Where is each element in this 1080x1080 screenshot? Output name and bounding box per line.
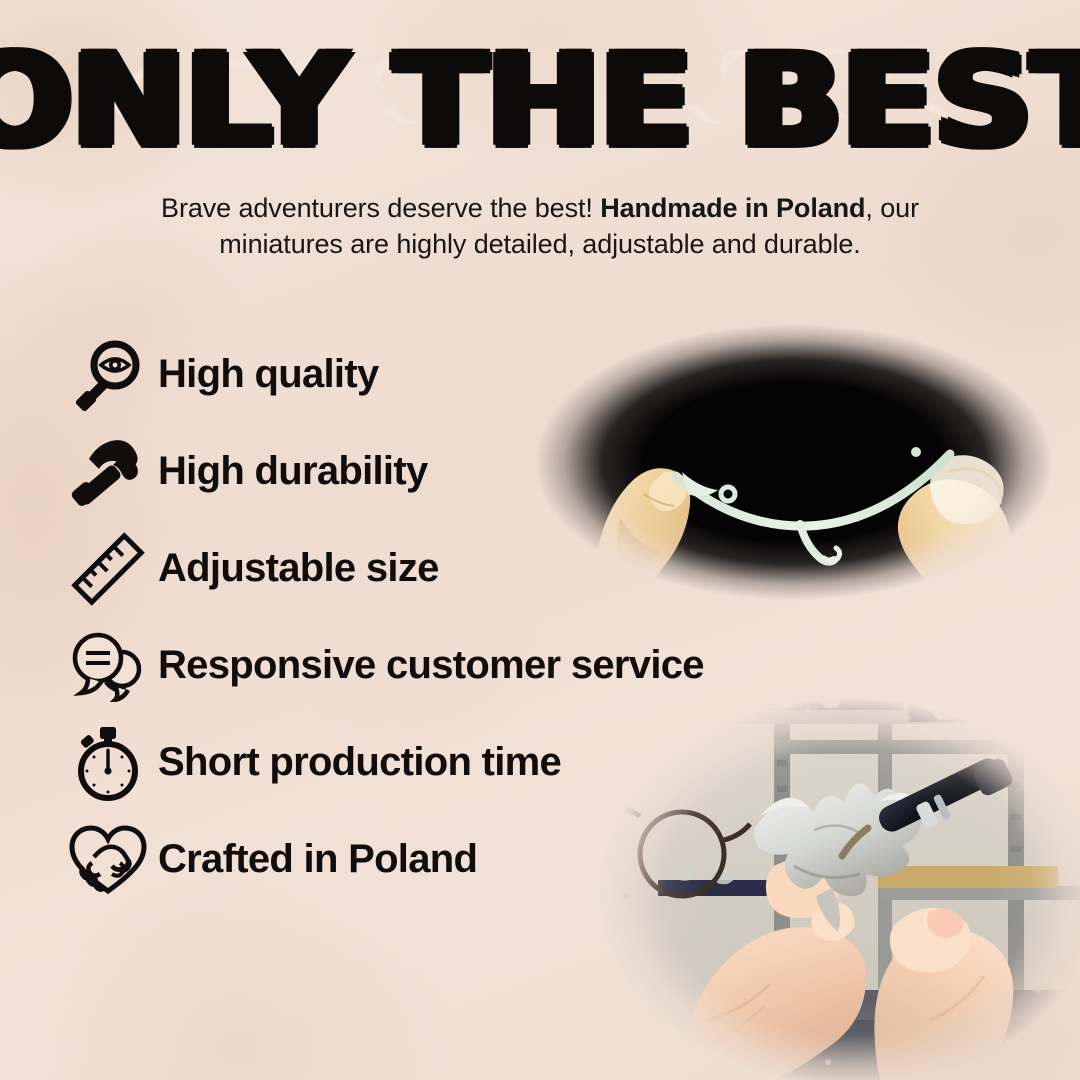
feature-label: High durability (158, 449, 428, 494)
ruler-icon (62, 527, 154, 611)
feature-label: Responsive customer service (158, 643, 704, 688)
feature-item-short-production-time: Short production time (62, 714, 802, 811)
feature-item-adjustable-size: Adjustable size (62, 520, 802, 617)
feature-list: High quality High durability (62, 326, 802, 908)
heart-handshake-icon (62, 818, 154, 902)
feature-item-high-quality: High quality (62, 326, 802, 423)
subtitle-highlight: Handmade in Poland (600, 193, 865, 223)
page-title: ONLY THE BEST (0, 44, 1080, 161)
subtitle-comma: , (865, 193, 872, 223)
stopwatch-icon (62, 721, 154, 805)
infographic-page: ONLY THE BEST Brave adventurers deserve … (0, 0, 1080, 1080)
subtitle: Brave adventurers deserve the best! Hand… (0, 190, 1080, 262)
feature-item-high-durability: High durability (62, 423, 802, 520)
magnifier-eye-icon (62, 333, 154, 417)
feature-item-responsive-customer-service: Responsive customer service (62, 617, 802, 714)
feature-label: Crafted in Poland (158, 837, 477, 882)
subtitle-lead: Brave adventurers deserve the best! (161, 193, 593, 223)
speech-bubbles-icon (62, 624, 154, 708)
feature-label: Adjustable size (158, 546, 439, 591)
feature-item-crafted-in-poland: Crafted in Poland (62, 811, 802, 908)
feature-label: High quality (158, 352, 379, 397)
hammer-icon (62, 430, 154, 514)
headline-block: ONLY THE BEST (0, 44, 1080, 154)
feature-label: Short production time (158, 740, 561, 785)
